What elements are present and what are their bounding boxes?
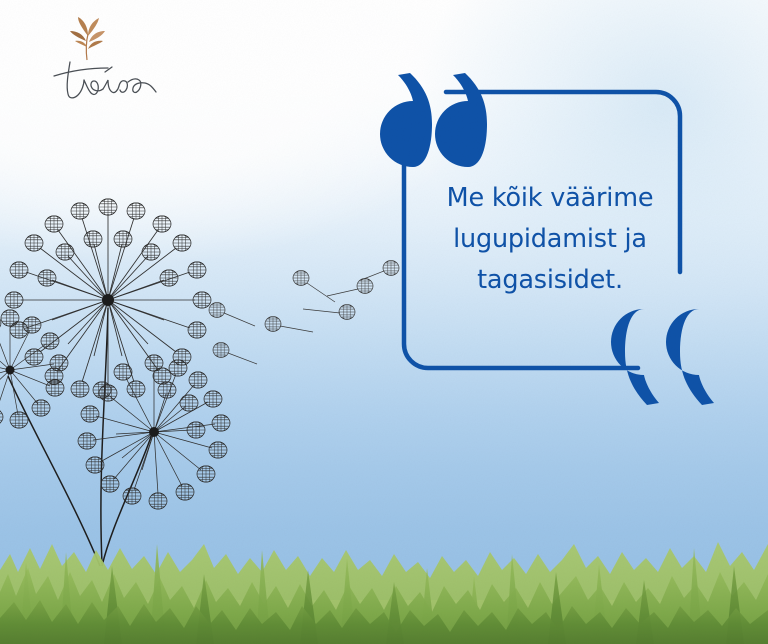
quotation-mark-close-icon (610, 308, 718, 406)
poster-canvas: Me kõik väärime lugupidamist ja tagasisi… (0, 0, 768, 644)
quote-card: Me kõik väärime lugupidamist ja tagasisi… (380, 68, 720, 408)
quotation-mark-open-icon (380, 72, 488, 167)
brand-wordmark (46, 54, 176, 106)
brand-logo[interactable] (46, 14, 176, 106)
quote-text: Me kõik väärime lugupidamist ja tagasisi… (402, 178, 698, 301)
grass-foreground (0, 514, 768, 644)
